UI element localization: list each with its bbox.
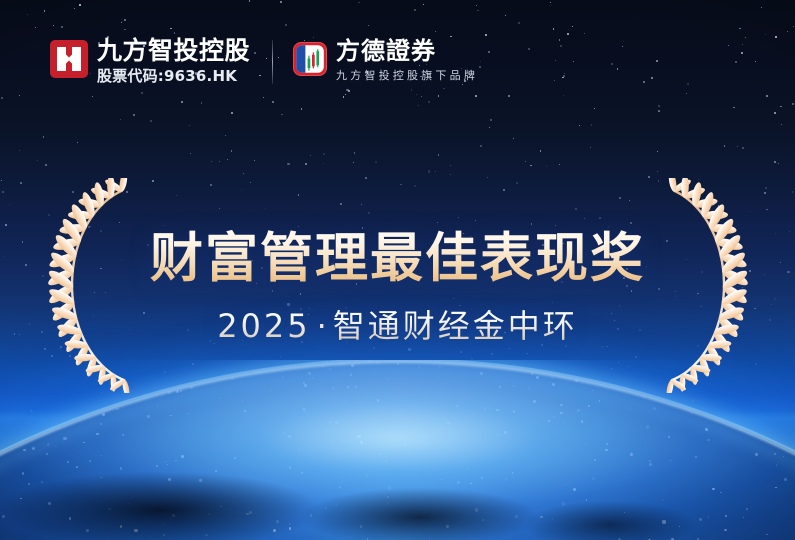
vertical-divider (272, 40, 273, 84)
laurel-wreath-right-icon (648, 178, 768, 393)
secondary-brand-tagline: 九方智投控股旗下品牌 (336, 68, 478, 84)
logo-glyph-icon (56, 46, 82, 72)
award-subtitle-name: 智通财经金中环 (333, 307, 578, 345)
fangde-chart-app-icon (293, 42, 327, 76)
award-subtitle: 2025·智通财经金中环 (148, 306, 648, 346)
laurel-wreath-left-icon (28, 178, 148, 393)
award-poster: 九方智投控股 股票代码:9636.HK 方德證券 (0, 0, 795, 540)
chart-glyph-icon (293, 42, 327, 76)
secondary-brand-text: 方德證券 九方智投控股旗下品牌 (336, 38, 478, 84)
secondary-brand-name: 方德證券 (336, 38, 478, 64)
primary-brand-stock-code: 股票代码:9636.HK (97, 67, 250, 85)
award-block: 财富管理最佳表现奖 2025·智通财经金中环 (0, 178, 795, 393)
secondary-brand[interactable]: 方德證券 九方智投控股旗下品牌 (293, 38, 478, 84)
award-subtitle-separator: · (311, 307, 333, 345)
primary-brand-name: 九方智投控股 (97, 38, 250, 64)
jiufang-square-logo-icon (50, 40, 88, 78)
award-title: 财富管理最佳表现奖 (148, 226, 648, 292)
primary-brand[interactable]: 九方智投控股 股票代码:9636.HK (50, 38, 250, 85)
primary-brand-text: 九方智投控股 股票代码:9636.HK (97, 38, 250, 85)
header-brand-bar: 九方智投控股 股票代码:9636.HK 方德證券 (50, 38, 478, 85)
award-subtitle-year: 2025 (217, 307, 310, 345)
award-text-block: 财富管理最佳表现奖 2025·智通财经金中环 (148, 226, 648, 346)
